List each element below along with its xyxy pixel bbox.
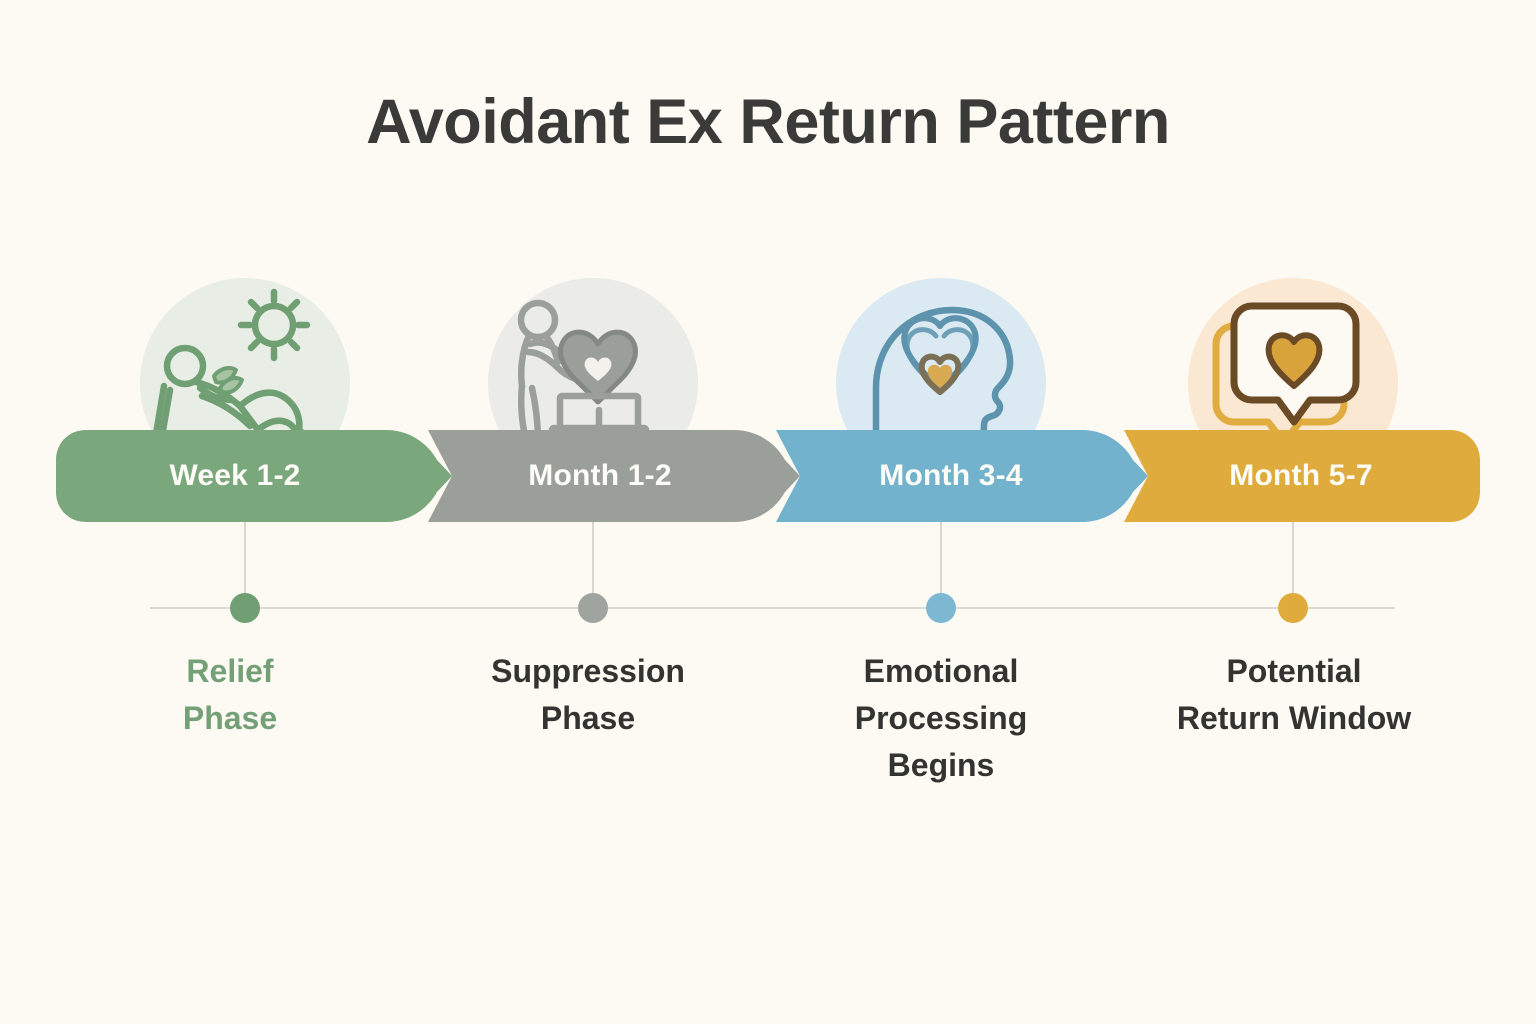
caption-line: Emotional — [781, 648, 1101, 695]
page-title: Avoidant Ex Return Pattern — [0, 86, 1536, 158]
caption-line: Return Window — [1134, 695, 1454, 742]
stage-caption-4: Potential Return Window — [1134, 648, 1454, 742]
timeline-node-2[interactable] — [578, 593, 608, 623]
band-label-1[interactable]: Week 1-2 — [85, 430, 385, 522]
caption-line: Phase — [70, 695, 390, 742]
caption-line: Relief — [70, 648, 390, 695]
stage-caption-2: Suppression Phase — [428, 648, 748, 742]
timeline-axis-line — [150, 607, 1395, 609]
caption-line: Suppression — [428, 648, 748, 695]
caption-line: Potential — [1134, 648, 1454, 695]
band-label-2[interactable]: Month 1-2 — [450, 430, 750, 522]
stage-caption-3: Emotional Processing Begins — [781, 648, 1101, 789]
stage-caption-1: Relief Phase — [70, 648, 390, 742]
timeline-node-3[interactable] — [926, 593, 956, 623]
timeline-node-4[interactable] — [1278, 593, 1308, 623]
infographic-canvas: Avoidant Ex Return Pattern — [0, 0, 1536, 1024]
caption-line: Processing — [781, 695, 1101, 742]
timeline-node-1[interactable] — [230, 593, 260, 623]
caption-line: Begins — [781, 742, 1101, 789]
band-label-3[interactable]: Month 3-4 — [801, 430, 1101, 522]
band-label-group: Week 1-2 Month 1-2 Month 3-4 Month 5-7 — [0, 430, 1536, 522]
caption-line: Phase — [428, 695, 748, 742]
band-label-4[interactable]: Month 5-7 — [1151, 430, 1451, 522]
